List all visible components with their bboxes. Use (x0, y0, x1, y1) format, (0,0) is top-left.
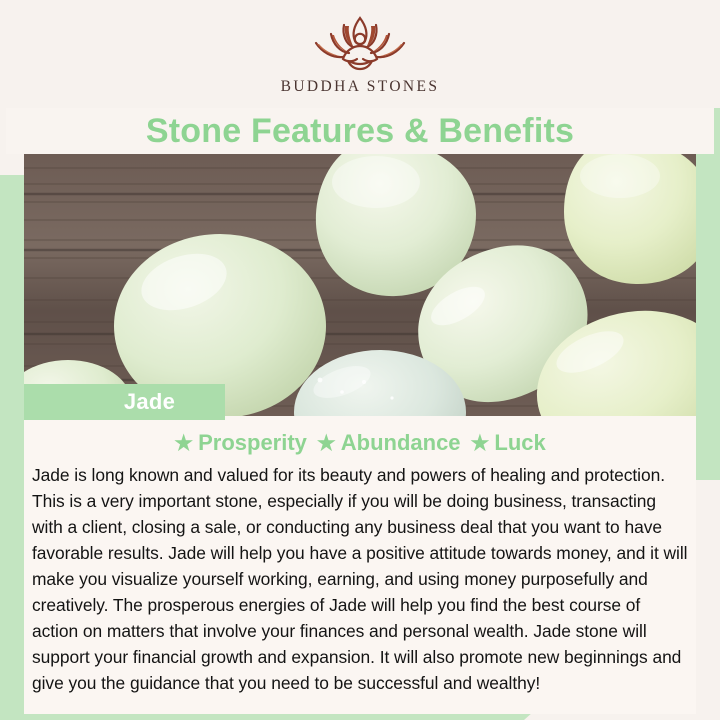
benefit-item-abundance: ★ Abundance (317, 430, 461, 456)
benefit-label: Prosperity (198, 430, 307, 456)
title-banner: Stone Features & Benefits (6, 108, 714, 154)
benefit-label: Luck (494, 430, 545, 456)
benefits-row: ★ Prosperity ★ Abundance ★ Luck (30, 430, 690, 456)
star-icon: ★ (317, 433, 336, 454)
benefit-label: Abundance (341, 430, 461, 456)
brand-header: BUDDHA STONES (0, 0, 720, 108)
brand-name: BUDDHA STONES (281, 78, 440, 96)
stone-photo-image (24, 154, 696, 416)
decorative-border-left (0, 175, 24, 720)
page-title: Stone Features & Benefits (146, 112, 574, 151)
stone-photo (24, 154, 696, 416)
stone-name-band: Jade (24, 384, 225, 420)
brand-logo: BUDDHA STONES (281, 12, 440, 96)
description-text: Jade is long known and valued for its be… (30, 462, 690, 696)
benefit-item-prosperity: ★ Prosperity (174, 430, 307, 456)
stone-name-label: Jade (24, 389, 225, 415)
stone-description-panel: ★ Prosperity ★ Abundance ★ Luck Jade is … (24, 416, 696, 714)
star-icon: ★ (471, 433, 490, 454)
lotus-meditation-icon (304, 12, 416, 74)
star-icon: ★ (174, 433, 193, 454)
benefit-item-luck: ★ Luck (471, 430, 546, 456)
